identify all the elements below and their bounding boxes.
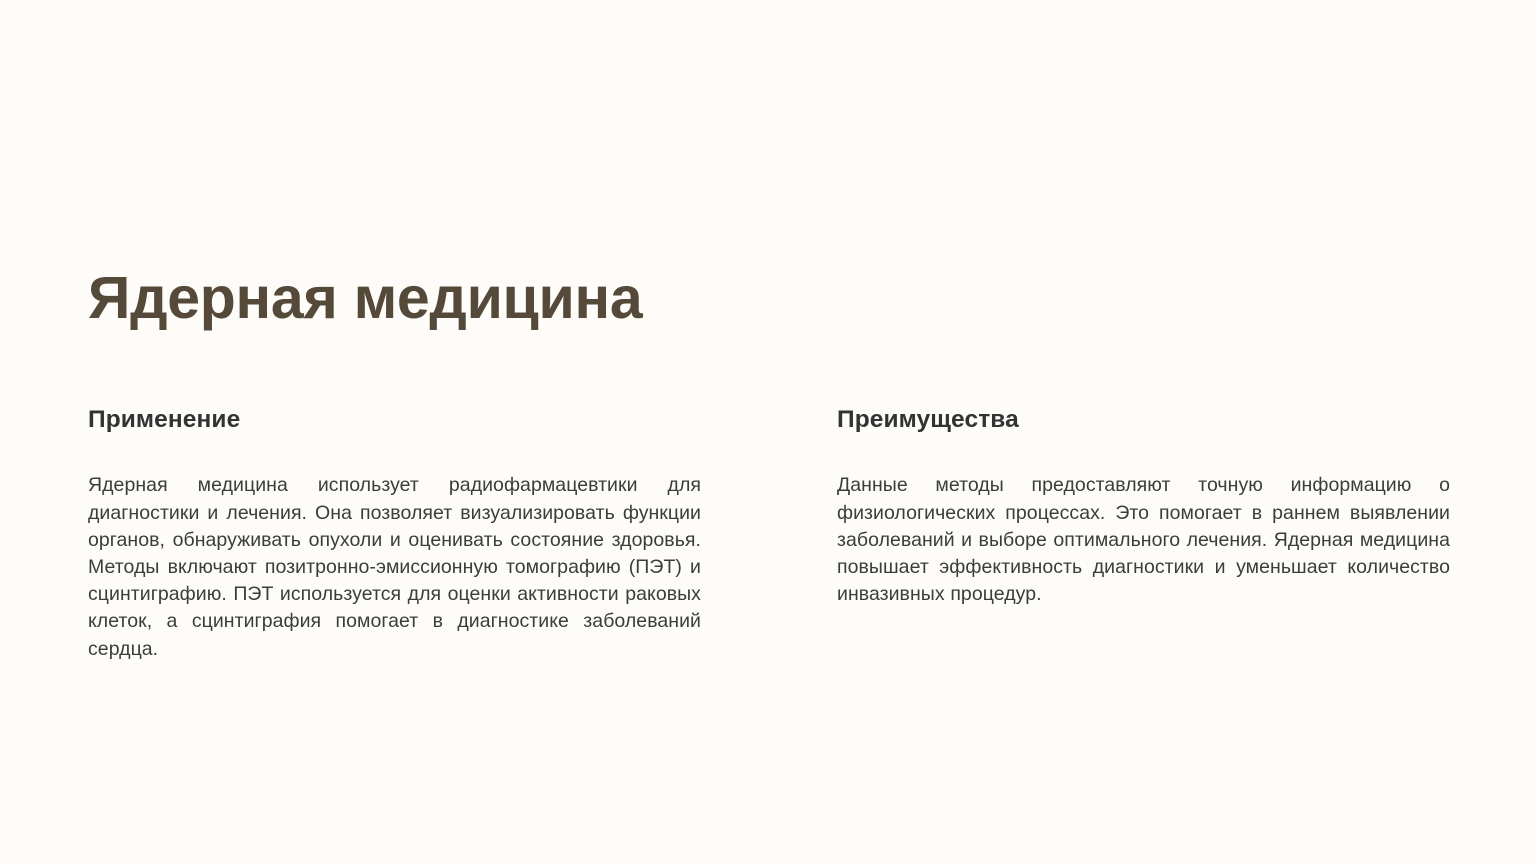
slide-canvas: Ядерная медицина Применение Ядерная меди…: [0, 0, 1536, 864]
column-body-advantages: Данные методы предоставляют точную инфор…: [837, 472, 1450, 608]
column-heading-advantages: Преимущества: [837, 405, 1450, 434]
column-applications: Применение Ядерная медицина использует р…: [88, 405, 701, 663]
page-title: Ядерная медицина: [88, 268, 642, 330]
column-advantages: Преимущества Данные методы предоставляют…: [837, 405, 1450, 608]
content-columns: Применение Ядерная медицина использует р…: [88, 405, 1450, 663]
column-heading-applications: Применение: [88, 405, 701, 434]
column-body-applications: Ядерная медицина использует радиофармаце…: [88, 472, 701, 662]
